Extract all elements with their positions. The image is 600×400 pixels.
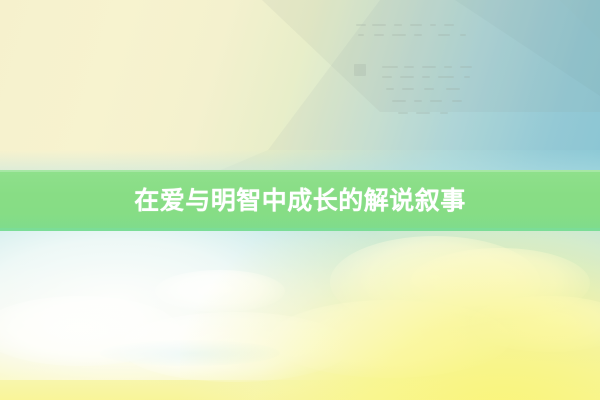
title-band: 在爱与明智中成长的解说叙事 [0, 170, 600, 231]
page-title: 在爱与明智中成长的解说叙事 [134, 188, 466, 213]
title-banner: 在爱与明智中成长的解说叙事 [0, 0, 600, 400]
